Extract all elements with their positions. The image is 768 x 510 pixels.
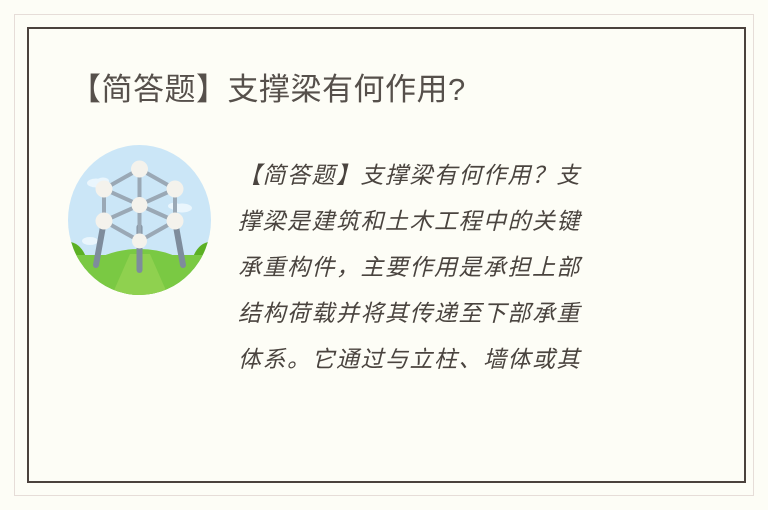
answer-line: 结构荷载并将其传递至下部承重 [238,291,716,337]
answer-line: 【简答题】支撑梁有何作用？支 [238,153,716,199]
qa-card-page: 【简答题】支撑梁有何作用? [0,0,768,510]
atomium-structure-illustration [68,145,211,295]
answer-line: 撑梁是建筑和土木工程中的关键 [238,199,716,245]
answer-text-block: 【简答题】支撑梁有何作用？支 撑梁是建筑和土木工程中的关键 承重构件，主要作用是… [226,145,716,383]
answer-body-row: 【简答题】支撑梁有何作用？支 撑梁是建筑和土木工程中的关键 承重构件，主要作用是… [68,145,716,383]
answer-line: 体系。它通过与立柱、墙体或其 [238,337,716,383]
card-content: 【简答题】支撑梁有何作用? [27,27,746,483]
answer-line: 承重构件，主要作用是承担上部 [238,245,716,291]
page-title: 【简答题】支撑梁有何作用? [70,70,466,110]
